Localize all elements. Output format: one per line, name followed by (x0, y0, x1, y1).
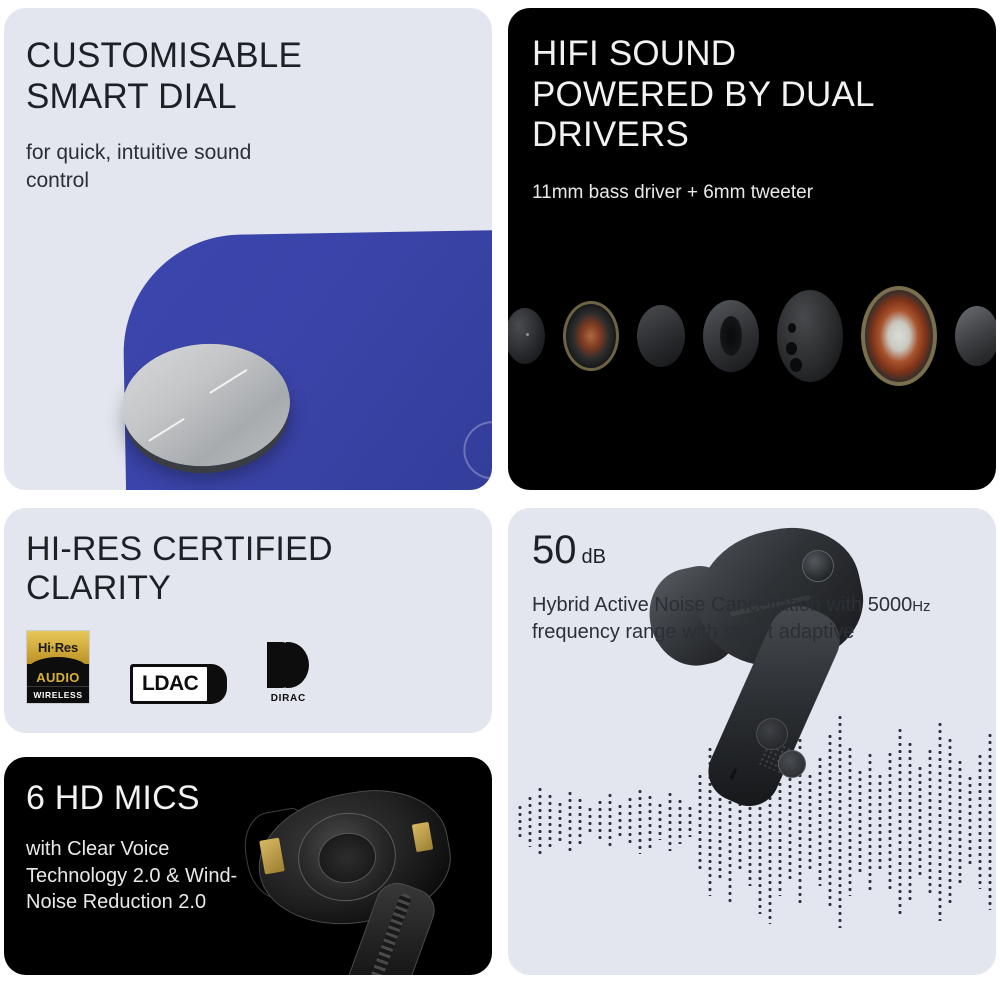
hi-res-badge-line3: WIRELESS (33, 690, 82, 700)
driver-part-housing (777, 290, 843, 382)
dial-groove-upper (209, 369, 247, 394)
hifi-text: HIFI SOUND POWERED BY DUAL DRIVERS 11mm … (532, 34, 976, 205)
certification-badges: Hi·Res AUDIO WIRELESS LDAC (26, 630, 309, 704)
waveform-column (938, 721, 942, 921)
hi-res-badge-line2: AUDIO (36, 670, 79, 685)
waveform-column (968, 775, 972, 867)
waveform-column (918, 765, 922, 877)
anc-frequency-unit: Hz (912, 598, 930, 615)
waveform-column (608, 792, 612, 850)
waveform-column (528, 795, 532, 847)
dial-groove-lower (148, 418, 185, 442)
housing-vent-c (788, 323, 796, 333)
waveform-column (628, 796, 632, 846)
hifi-subtext: 11mm bass driver + 6mm tweeter (532, 180, 976, 205)
mics-text: 6 HD MICS with Clear Voice Technology 2.… (26, 779, 472, 916)
ldac-badge-label: LDAC (142, 672, 198, 696)
anc-metric-unit: dB (582, 546, 606, 568)
hi-res-badge-bottom: WIRELESS (27, 686, 89, 703)
driver-part-diaphragm (508, 308, 545, 364)
panel-smart-dial: CUSTOMISABLE SMART DIAL for quick, intui… (4, 8, 492, 490)
anc-subtext: Hybrid Active Noise Cancellation with 50… (532, 592, 974, 646)
waveform-column (558, 801, 562, 841)
panel-anc: 50dB Hybrid Active Noise Cancellation wi… (508, 508, 996, 975)
panel-hifi-sound: HIFI SOUND POWERED BY DUAL DRIVERS 11mm … (508, 8, 996, 490)
hi-res-badge-top: Hi·Res (27, 631, 89, 664)
mics-subtext: with Clear Voice Technology 2.0 & Wind- … (26, 836, 472, 915)
anc-subtext-part1: Hybrid Active Noise Cancellation with (532, 594, 868, 616)
dirac-badge-label: DIRAC (271, 693, 306, 704)
waveform-column (618, 803, 622, 839)
waveform-column (578, 797, 582, 845)
dirac-logo-icon (267, 642, 309, 688)
ldac-badge: LDAC (130, 664, 227, 704)
driver-part-ring (703, 300, 759, 372)
ldac-badge-inner: LDAC (133, 667, 207, 701)
waveform-column (978, 753, 982, 889)
feature-grid: CUSTOMISABLE SMART DIAL for quick, intui… (0, 0, 1000, 1000)
waveform-column (928, 748, 932, 894)
waveform-column (598, 799, 602, 843)
waveform-column (538, 786, 542, 856)
waveform-column (638, 788, 642, 854)
driver-part-backplate (955, 306, 996, 366)
driver-components-image (508, 276, 996, 396)
panel-hd-mics: 6 HD MICS with Clear Voice Technology 2.… (4, 757, 492, 975)
dirac-badge: DIRAC (267, 642, 309, 704)
waveform-column (958, 759, 962, 883)
waveform-column (948, 737, 952, 905)
hi-res-audio-wireless-badge: Hi·Res AUDIO WIRELESS (26, 630, 90, 704)
earbud-mic-bottom (778, 750, 806, 778)
anc-text: 50dB Hybrid Active Noise Cancellation wi… (532, 530, 974, 646)
hi-res-text: HI-RES CERTIFIED CLARITY (26, 530, 472, 609)
waveform-column (568, 790, 572, 852)
waveform-column (988, 732, 992, 910)
waveform-column (588, 806, 592, 836)
housing-vent-a (786, 342, 797, 355)
waveform-column (548, 793, 552, 849)
housing-vent-b (790, 358, 802, 372)
driver-part-tweeter-coil (563, 301, 619, 371)
hi-res-heading: HI-RES CERTIFIED CLARITY (26, 530, 472, 609)
anc-metric: 50dB (532, 530, 974, 570)
anc-metric-value: 50 (532, 528, 577, 572)
earbud-mic-mid (756, 718, 788, 750)
smart-dial-heading: CUSTOMISABLE SMART DIAL (26, 36, 468, 117)
smart-dial-text: CUSTOMISABLE SMART DIAL for quick, intui… (26, 36, 468, 195)
waveform-column (518, 804, 522, 838)
driver-part-bass-coil (861, 286, 937, 386)
driver-part-magnet-cap (637, 305, 685, 367)
panel-hi-res: HI-RES CERTIFIED CLARITY Hi·Res AUDIO WI… (4, 508, 492, 733)
smart-dial-subtext: for quick, intuitive sound control (26, 139, 468, 194)
mics-heading: 6 HD MICS (26, 779, 472, 818)
waveform-column (908, 741, 912, 901)
anc-frequency-value: 5000 (868, 594, 913, 616)
anc-subtext-part2: frequency range with smart adaptive (532, 621, 854, 643)
hi-res-badge-line1: Hi·Res (38, 640, 78, 655)
hifi-heading: HIFI SOUND POWERED BY DUAL DRIVERS (532, 34, 976, 156)
